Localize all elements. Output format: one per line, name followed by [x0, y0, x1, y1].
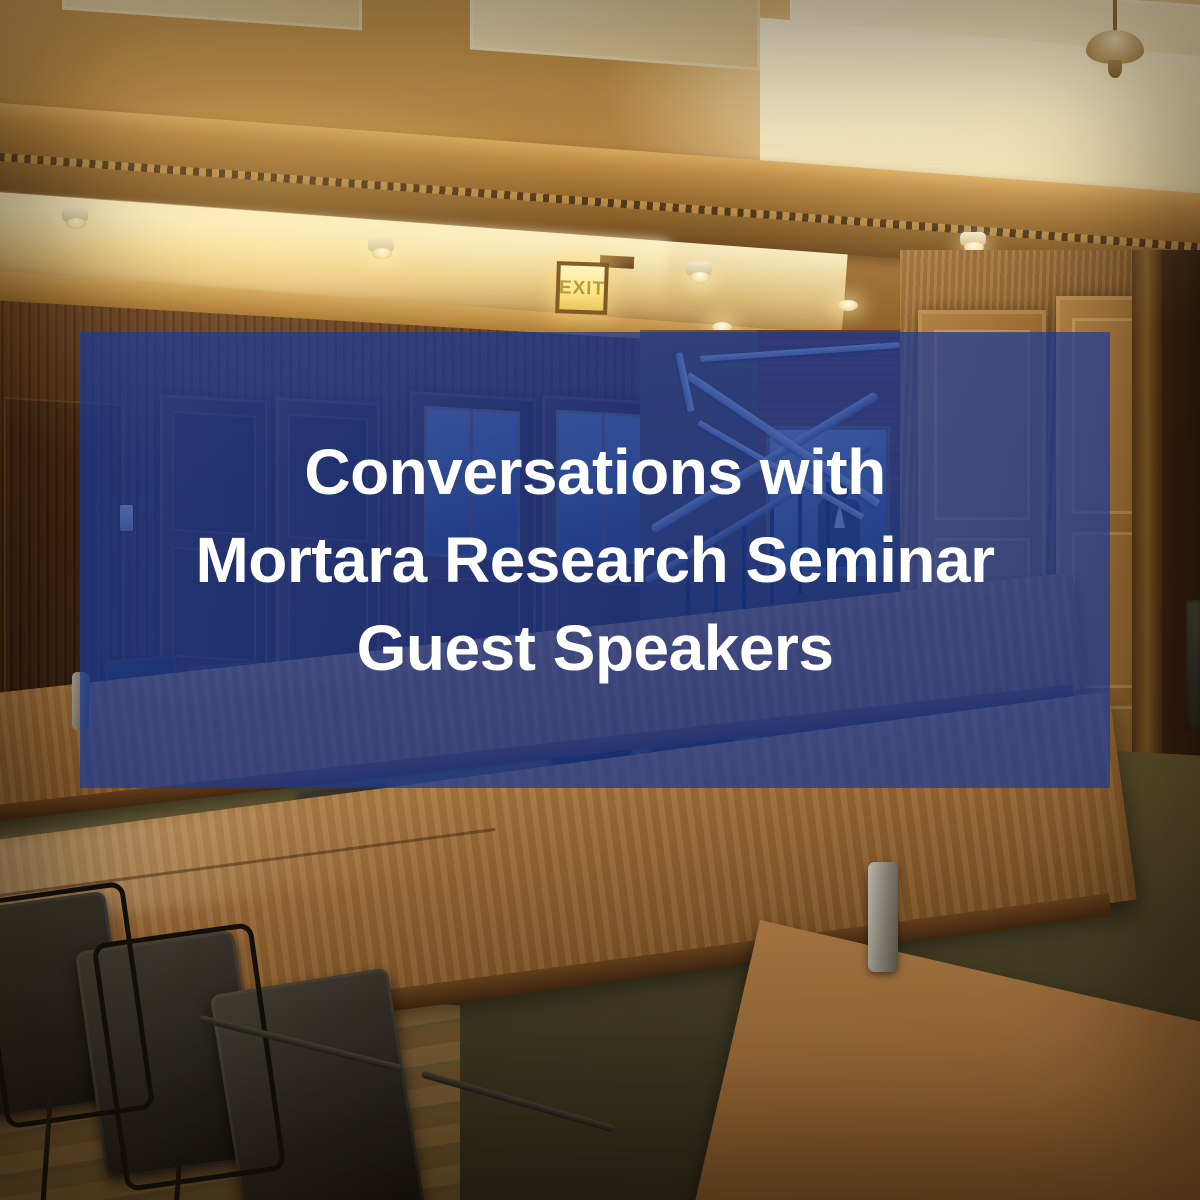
title-line-3: Guest Speakers: [96, 604, 1094, 692]
pendant-light-finial: [1108, 60, 1122, 78]
recessed-light: [690, 272, 710, 283]
table-power-post: [868, 862, 898, 972]
exit-sign: EXIT: [555, 261, 609, 315]
title-overlay-panel: Conversations with Mortara Research Semi…: [80, 332, 1110, 788]
pendant-light: [1086, 30, 1144, 64]
recessed-light: [838, 300, 858, 311]
page-title: Conversations with Mortara Research Semi…: [80, 428, 1110, 692]
exit-sign-label: EXIT: [559, 265, 605, 311]
title-line-2: Mortara Research Seminar: [96, 516, 1094, 604]
chair-frame: [91, 922, 286, 1192]
recessed-light: [372, 248, 392, 259]
title-line-1: Conversations with: [96, 428, 1094, 516]
banner-image: EXIT: [0, 0, 1200, 1200]
wall-fixture: [1186, 600, 1200, 730]
recessed-light: [66, 218, 86, 229]
